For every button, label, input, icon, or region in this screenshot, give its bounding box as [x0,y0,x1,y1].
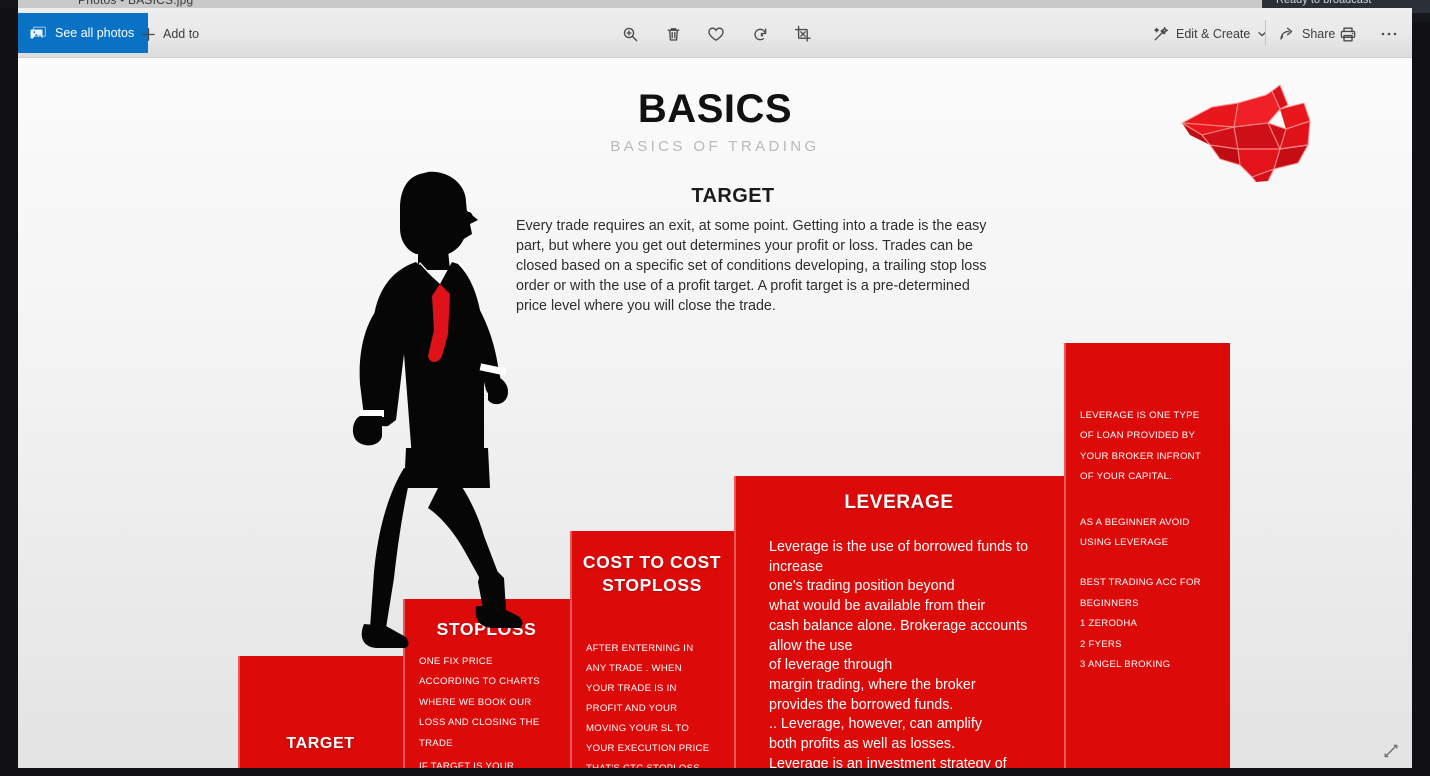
step-body-leverage-tips: LEVERAGE IS ONE TYPE OF LOAN PROVIDED BY… [1080,406,1224,675]
step-text-line: LEVERAGE IS ONE TYPE [1080,406,1224,426]
toolbar-divider [1265,20,1266,46]
share-button[interactable]: Share [1274,21,1340,47]
step-text-line: OF LOAN PROVIDED BY [1080,426,1224,446]
step-text-line: LOSS AND CLOSING THE [419,713,562,733]
step-text-line: IF TARGET IS YOUR [419,757,562,768]
edit-and-create-label: Edit & Create [1176,27,1250,41]
step-text-spacer [1080,553,1224,573]
step-text-line: 2 FYERS [1080,635,1224,655]
magic-wand-icon [1153,26,1169,42]
crop-icon [794,25,812,43]
print-button[interactable] [1333,20,1363,48]
step-text-line: WHERE WE BOOK OUR [419,693,562,713]
title-bar-left-edge [0,0,18,8]
step-title-target: TARGET [238,735,403,753]
step-text-line: YOUR EXECUTION PRICE [586,739,728,759]
magnifier-icon [622,26,639,43]
step-text-line: BEGINNERS [1080,594,1224,614]
step-text-line: MOVING YOUR SL TO [586,719,728,739]
photos-app-window: Photos • BASICS.jpg Ready to broadcast S… [0,0,1430,776]
step-text-line: YOUR BROKER INFRONT [1080,447,1224,467]
step-body-leverage: Leverage is the use of borrowed funds to… [769,538,1052,768]
low-poly-bull-head-logo [1176,83,1318,183]
target-section-body: Every trade requires an exit, at some po… [516,216,988,316]
step-block-leverage: LEVERAGE Leverage is the use of borrowed… [734,476,1064,768]
crop-button[interactable] [788,20,818,48]
step-text-spacer [1080,488,1224,513]
step-title-leverage: LEVERAGE [734,492,1064,514]
zoom-button[interactable] [615,20,645,48]
step-text-line: USING LEVERAGE [1080,533,1224,553]
step-body-cost-to-cost-stoploss: AFTER ENTERNING IN ANY TRADE . WHEN YOUR… [586,639,728,768]
photo-viewer-canvas: BASICS BASICS OF TRADING [18,58,1412,768]
rotate-icon [752,26,769,43]
more-options-button[interactable] [1374,20,1404,48]
step-text-line: PROFIT AND YOUR [586,699,728,719]
resize-diagonal-icon[interactable] [1382,742,1402,762]
step-text-line: THAT'S CTC STOPLOSS [586,759,728,768]
printer-icon [1339,26,1357,43]
poster-image: BASICS BASICS OF TRADING [18,58,1412,768]
step-text-line: TRADE [419,734,562,754]
step-edge-highlight [1064,343,1066,768]
favorite-button[interactable] [701,20,731,48]
share-label: Share [1302,27,1335,41]
step-text-line: OF YOUR CAPITAL. [1080,467,1224,487]
step-text-line: ANY TRADE . WHEN [586,659,728,679]
step-text-line: AFTER ENTERNING IN [586,639,728,659]
photos-toolbar: See all photos Add to [18,8,1412,58]
share-arrow-icon [1279,26,1295,42]
trash-icon [665,26,682,43]
photo-stack-icon [30,26,46,40]
broadcast-status-label: Ready to broadcast [1276,0,1371,6]
add-to-button[interactable]: Add to [136,21,204,47]
target-section-heading: TARGET [598,185,868,208]
see-all-photos-button[interactable]: See all photos [18,13,148,53]
businessman-silhouette-climbing-stairs [308,158,558,678]
edit-and-create-button[interactable]: Edit & Create [1148,21,1272,47]
plus-icon [141,27,156,42]
window-title-text: Photos • BASICS.jpg [78,0,193,7]
step-block-leverage-tips: LEVERAGE IS ONE TYPE OF LOAN PROVIDED BY… [1064,343,1230,768]
delete-button[interactable] [658,20,688,48]
step-text-line: 3 ANGEL BROKING [1080,655,1224,675]
step-text-line: BEST TRADING ACC FOR [1080,573,1224,593]
step-block-cost-to-cost-stoploss: COST TO COST STOPLOSS AFTER ENTERNING IN… [570,531,734,768]
step-text-line: YOUR TRADE IS IN [586,679,728,699]
step-edge-highlight [734,476,736,768]
step-text-line: 1 ZERODHA [1080,614,1224,634]
rotate-button[interactable] [745,20,775,48]
step-text-line: AS A BEGINNER AVOID [1080,513,1224,533]
window-title-bar: Photos • BASICS.jpg [0,0,1430,8]
step-title-cost-to-cost-stoploss: COST TO COST STOPLOSS [570,551,734,597]
heart-icon [707,26,725,43]
add-to-label: Add to [163,27,199,41]
see-all-photos-label: See all photos [55,26,134,40]
ellipsis-icon [1380,31,1398,37]
